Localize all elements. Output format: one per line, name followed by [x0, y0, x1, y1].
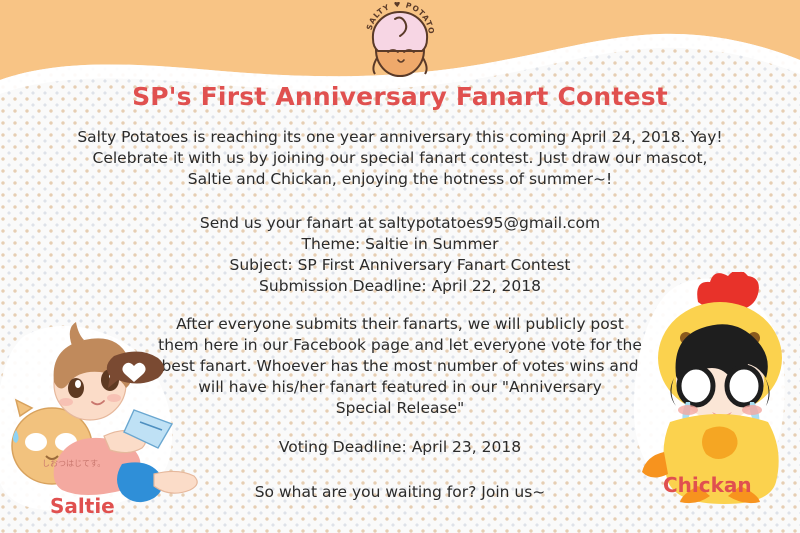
text-line: Celebrate it with us by joining our spec… [0, 148, 800, 169]
saltie-character-illustration: しおつはじてす。 [0, 318, 204, 518]
poster-title: SP's First Anniversary Fanart Contest [0, 82, 800, 111]
svg-text:しおつはじてす。: しおつはじてす。 [42, 459, 105, 468]
chickan-character-illustration [628, 272, 800, 504]
intro-paragraph: Salty Potatoes is reaching its one year … [0, 127, 800, 190]
fanart-contest-poster: SALTY ♥ POTATO SP's First Anniversary Fa… [0, 0, 800, 533]
saltie-label: Saltie [50, 494, 115, 518]
text-line: Salty Potatoes is reaching its one year … [0, 127, 800, 148]
text-line: Saltie and Chickan, enjoying the hotness… [0, 169, 800, 190]
text-line: Send us your fanart at saltypotatoes95@g… [0, 213, 800, 234]
salty-potato-logo: SALTY ♥ POTATO [355, 2, 445, 82]
text-line: Theme: Saltie in Summer [0, 234, 800, 255]
chickan-label: Chickan [663, 473, 752, 497]
